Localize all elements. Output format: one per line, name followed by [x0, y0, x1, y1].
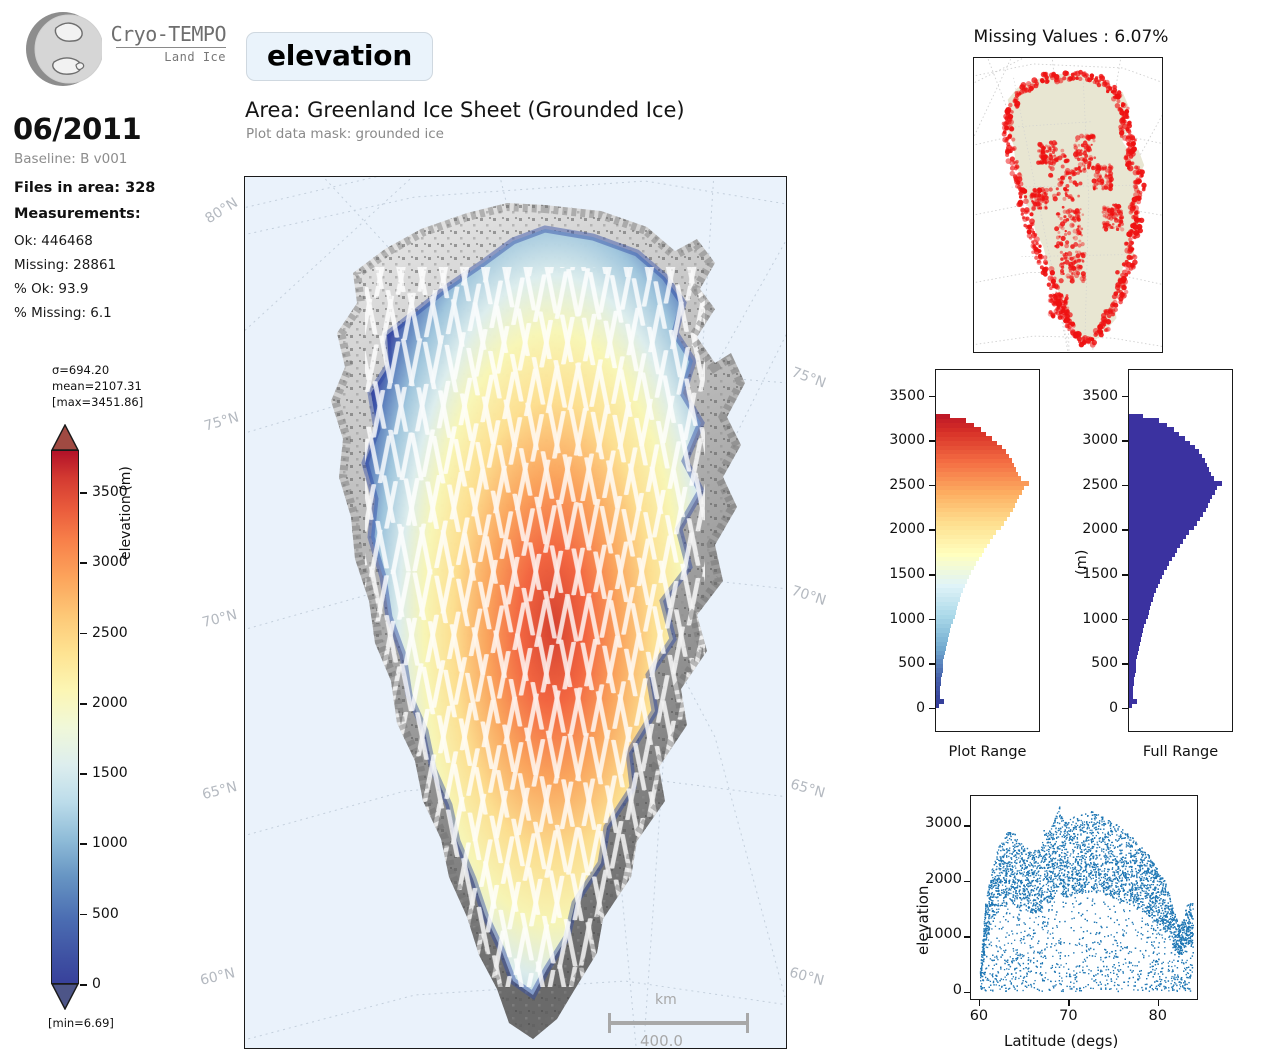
- colorbar-max: [max=3451.86]: [52, 395, 143, 411]
- histogram-bar: [1129, 423, 1167, 428]
- histogram-bar: [1129, 610, 1149, 615]
- histogram-bar: [936, 534, 993, 539]
- histogram-bar: [936, 703, 939, 708]
- histogram-bar: [936, 454, 1009, 459]
- histogram-bar: [1129, 641, 1140, 646]
- histogram-bar: [1129, 579, 1160, 584]
- missing-values-map-axes[interactable]: [973, 57, 1163, 353]
- baseline-label: Baseline: B v001: [14, 151, 127, 167]
- histogram-bar: [1129, 490, 1215, 495]
- histogram-bar: [936, 565, 974, 570]
- histogram-bar: [1129, 418, 1159, 423]
- histogram-tick-label-1000: 1000: [1074, 611, 1118, 627]
- histogram-bar: [1129, 677, 1134, 682]
- colorbar-mean: mean=2107.31: [52, 379, 143, 395]
- histogram-tick-label-2000: 2000: [881, 521, 925, 537]
- colorbar-tick: [80, 633, 87, 635]
- histogram-bar: [1129, 561, 1169, 566]
- histogram-bar: [936, 632, 949, 637]
- lat-label-right-75n: 75°N: [789, 364, 828, 391]
- histogram-bar: [1129, 441, 1190, 446]
- histogram-bar: [936, 605, 957, 610]
- histogram-bar: [1129, 686, 1133, 691]
- histogram-bar: [936, 597, 960, 602]
- histogram-bar: [936, 530, 996, 535]
- histogram-bar: [936, 441, 997, 446]
- stat-pct-ok: % Ok: 93.9: [14, 281, 88, 297]
- histogram-bar: [936, 695, 940, 700]
- histogram-bar: [936, 663, 943, 668]
- histogram-bar: [1129, 650, 1138, 655]
- histogram-bar: [936, 458, 1012, 463]
- histogram-tick-label-2500: 2500: [881, 477, 925, 493]
- logo-title: Cryo-TEMPO: [106, 24, 226, 45]
- files-in-area-label: Files in area: 328: [14, 180, 155, 196]
- colorbar-bottom-arrow-icon: [51, 983, 79, 1010]
- colorbar-tick-label-2000: 2000: [92, 695, 128, 711]
- histogram-bar: [936, 650, 945, 655]
- lat-label-left-75n: 75°N: [202, 409, 240, 434]
- histogram-bar: [936, 668, 943, 673]
- scatter-x-tick-label-80: 80: [1146, 1008, 1170, 1024]
- scatter-xlabel: Latitude (degs): [1004, 1032, 1118, 1050]
- histogram-bar: [936, 579, 967, 584]
- globe-icon: [24, 10, 102, 88]
- colorbar-tick-label-500: 500: [92, 906, 119, 922]
- scatter-x-tick: [979, 1000, 981, 1006]
- histogram-tick: [929, 485, 935, 487]
- lat-label-right-60n: 60°N: [788, 965, 826, 990]
- colorbar-tick: [80, 492, 87, 494]
- histogram-bar: [936, 449, 1006, 454]
- histogram-bar: [936, 472, 1018, 477]
- histogram-bar: [1129, 619, 1146, 624]
- stat-ok: Ok: 446468: [14, 233, 93, 249]
- histogram-tick: [1122, 708, 1128, 710]
- histogram-bar: [1129, 503, 1208, 508]
- histogram-tick-label-1500: 1500: [881, 566, 925, 582]
- histogram-bar: [1129, 570, 1164, 575]
- missing-values-map: [974, 58, 1162, 352]
- histogram-bar: [936, 672, 942, 677]
- histogram-tick: [1122, 619, 1128, 621]
- histogram-bar: [1129, 525, 1194, 530]
- scalebar-right-cap: [746, 1013, 749, 1033]
- histogram-bar: [1129, 583, 1158, 588]
- colorbar: [51, 424, 79, 1010]
- histogram-bar: [936, 681, 941, 686]
- histogram-bar: [936, 414, 950, 419]
- histogram-bar: [1129, 659, 1136, 664]
- histogram-tick-label-500: 500: [1074, 655, 1118, 671]
- full-range-histogram-ylabel: (m): [1074, 550, 1090, 575]
- report-date: 06/2011: [13, 112, 141, 146]
- histogram-bar: [936, 628, 950, 633]
- histogram-bar: [936, 516, 1007, 521]
- scatter-y-tick: [964, 825, 970, 827]
- histogram-bar: [1129, 628, 1143, 633]
- histogram-bar: [936, 548, 984, 553]
- histogram-bar: [1129, 494, 1212, 499]
- histogram-tick-label-3000: 3000: [881, 432, 925, 448]
- histogram-bar: [936, 646, 946, 651]
- histogram-bar: [1129, 663, 1136, 668]
- histogram-bar: [936, 539, 990, 544]
- histogram-bar: [936, 583, 965, 588]
- histogram-bar: [1129, 449, 1199, 454]
- histogram-bar: [936, 490, 1022, 495]
- main-map-axes[interactable]: km 400.0: [244, 176, 787, 1049]
- histogram-bar: [936, 619, 953, 624]
- histogram-tick: [1122, 663, 1128, 665]
- scatter-y-tick: [964, 992, 970, 994]
- histogram-bar: [1129, 699, 1137, 704]
- histogram-bar: [936, 543, 987, 548]
- logo-text-block: Cryo-TEMPO Land Ice: [106, 24, 226, 64]
- histogram-bar: [1129, 476, 1214, 481]
- histogram-bar: [936, 677, 941, 682]
- scatter-x-tick-label-70: 70: [1056, 1008, 1080, 1024]
- histogram-bar: [1129, 548, 1177, 553]
- histogram-bar: [936, 436, 992, 441]
- cryo-tempo-logo: Cryo-TEMPO Land Ice: [14, 8, 226, 92]
- area-title: Area: Greenland Ice Sheet (Grounded Ice): [245, 98, 685, 122]
- scatter-y-tick: [964, 936, 970, 938]
- scatter-y-tick-label-0: 0: [914, 982, 962, 998]
- lat-label-left-60n: 60°N: [199, 965, 237, 989]
- scalebar-unit: km: [655, 992, 677, 1008]
- histogram-bar: [1129, 695, 1133, 700]
- histogram-bar: [936, 588, 963, 593]
- histogram-tick: [1122, 396, 1128, 398]
- histogram-bar: [1129, 588, 1156, 593]
- histogram-tick: [1122, 574, 1128, 576]
- histogram-bar: [1129, 436, 1185, 441]
- histogram-tick: [929, 708, 935, 710]
- colorbar-axis-label: elevation (m): [118, 466, 134, 560]
- histogram-tick: [1122, 485, 1128, 487]
- histogram-tick: [929, 396, 935, 398]
- histogram-bar: [936, 570, 971, 575]
- histogram-tick: [1122, 440, 1128, 442]
- plot-range-histogram-axes[interactable]: [935, 369, 1040, 732]
- histogram-tick: [929, 529, 935, 531]
- histogram-bar: [1129, 485, 1217, 490]
- histogram-bar: [1129, 539, 1183, 544]
- scatter-y-tick-label-3000: 3000: [914, 815, 962, 831]
- histogram-bar: [936, 637, 948, 642]
- histogram-bar: [936, 610, 956, 615]
- colorbar-tick-label-2500: 2500: [92, 625, 128, 641]
- histogram-bar: [1129, 623, 1144, 628]
- histogram-bar: [1129, 681, 1134, 686]
- histogram-bar: [936, 592, 961, 597]
- histogram-bar: [1129, 601, 1151, 606]
- histogram-bar: [1129, 432, 1179, 437]
- mask-subtitle: Plot data mask: grounded ice: [246, 126, 444, 142]
- histogram-bar: [936, 690, 940, 695]
- histogram-tick: [1122, 529, 1128, 531]
- histogram-bar: [1129, 614, 1148, 619]
- histogram-bar: [1129, 690, 1133, 695]
- histogram-bar: [936, 521, 1004, 526]
- histogram-bar: [1129, 632, 1142, 637]
- histogram-bar: [1129, 472, 1211, 477]
- logo-divider: [116, 47, 226, 48]
- histogram-bar: [936, 525, 1001, 530]
- colorbar-tick: [80, 843, 87, 845]
- scalebar-left-cap: [608, 1013, 611, 1033]
- histogram-bar: [1129, 574, 1162, 579]
- scatter-y-tick: [964, 881, 970, 883]
- full-range-histogram-axes[interactable]: [1128, 369, 1233, 732]
- colorbar-top-arrow-icon: [51, 424, 79, 451]
- elevation-vs-latitude-axes[interactable]: [970, 795, 1198, 1000]
- histogram-tick-label-3500: 3500: [1074, 388, 1118, 404]
- histogram-bar: [1129, 454, 1202, 459]
- histogram-bar: [1129, 597, 1153, 602]
- colorbar-tick: [80, 984, 87, 986]
- histogram-tick-label-2500: 2500: [1074, 477, 1118, 493]
- histogram-tick-label-1000: 1000: [881, 611, 925, 627]
- histogram-bar: [936, 654, 944, 659]
- histogram-bar: [936, 503, 1015, 508]
- colorbar-sigma: σ=694.20: [52, 363, 143, 379]
- full-range-histogram-xlabel: Full Range: [1128, 744, 1233, 760]
- logo-subtitle: Land Ice: [106, 50, 226, 64]
- missing-values-title: Missing Values : 6.07%: [971, 27, 1171, 47]
- histogram-bar: [936, 623, 951, 628]
- colorbar-gradient: [51, 450, 79, 984]
- scatter-ylabel: elevation: [914, 886, 932, 955]
- histogram-bar: [936, 494, 1019, 499]
- histogram-tick-label-0: 0: [1074, 700, 1118, 716]
- histogram-bar: [936, 552, 982, 557]
- histogram-bar: [1129, 521, 1197, 526]
- histogram-bar: [936, 686, 940, 691]
- histogram-bar: [1129, 672, 1135, 677]
- histogram-bar: [936, 614, 955, 619]
- histogram-tick-label-500: 500: [881, 655, 925, 671]
- scatter-x-tick: [1158, 1000, 1160, 1006]
- histogram-bar: [936, 659, 943, 664]
- lat-label-left-80n: 80°N: [202, 195, 240, 227]
- histogram-bar: [936, 476, 1021, 481]
- histogram-tick: [929, 574, 935, 576]
- histogram-bar: [1129, 605, 1150, 610]
- histogram-tick-label-3000: 3000: [1074, 432, 1118, 448]
- histogram-bar: [936, 423, 974, 428]
- histogram-bar: [1129, 458, 1205, 463]
- histogram-bar: [936, 498, 1017, 503]
- histogram-bar: [936, 556, 979, 561]
- stat-pct-missing: % Missing: 6.1: [14, 305, 112, 321]
- histogram-bar: [936, 432, 986, 437]
- histogram-tick-label-3500: 3500: [881, 388, 925, 404]
- colorbar-tick: [80, 773, 87, 775]
- histogram-bar: [1129, 654, 1137, 659]
- histogram-bar: [1129, 637, 1141, 642]
- histogram-bar: [1129, 512, 1203, 517]
- histogram-tick: [929, 619, 935, 621]
- histogram-bar: [936, 507, 1013, 512]
- histogram-bar: [1129, 463, 1207, 468]
- elevation-vs-latitude-scatter: [971, 796, 1197, 999]
- histogram-bar: [1129, 592, 1154, 597]
- colorbar-tick-label-0: 0: [92, 976, 101, 992]
- histogram-bar: [1129, 498, 1210, 503]
- scalebar-value: 400.0: [640, 1032, 683, 1049]
- scatter-x-tick: [1068, 1000, 1070, 1006]
- histogram-bar: [936, 601, 958, 606]
- histogram-bar: [1129, 534, 1186, 539]
- greenland-ice-sheet-plot: [245, 177, 787, 1049]
- histogram-bar: [1129, 427, 1174, 432]
- histogram-bar: [1129, 481, 1222, 486]
- histogram-tick-label-0: 0: [881, 700, 925, 716]
- lat-label-right-65n: 65°N: [788, 776, 826, 801]
- histogram-bar: [1129, 414, 1143, 419]
- histogram-bar: [936, 463, 1014, 468]
- lat-label-left-65n: 65°N: [201, 779, 239, 803]
- colorbar-min: [min=6.69]: [48, 1016, 114, 1030]
- colorbar-tick-label-1000: 1000: [92, 835, 128, 851]
- histogram-bar: [936, 574, 969, 579]
- lat-label-right-70n: 70°N: [789, 583, 828, 609]
- histogram-tick-label-2000: 2000: [1074, 521, 1118, 537]
- histogram-bar: [1129, 703, 1132, 708]
- scalebar-line: [609, 1021, 749, 1025]
- histogram-bar: [936, 561, 976, 566]
- histogram-bar: [1129, 467, 1209, 472]
- histogram-bar: [936, 699, 944, 704]
- colorbar-tick: [80, 914, 87, 916]
- histogram-tick: [929, 440, 935, 442]
- colorbar-tick: [80, 562, 87, 564]
- colorbar-stats: σ=694.20 mean=2107.31 [max=3451.86]: [52, 363, 143, 411]
- histogram-bar: [1129, 668, 1136, 673]
- measurements-label: Measurements:: [14, 206, 141, 222]
- histogram-bar: [1129, 530, 1189, 535]
- histogram-bar: [1129, 552, 1175, 557]
- histogram-bar: [936, 512, 1010, 517]
- histogram-bar: [1129, 507, 1206, 512]
- colorbar-tick: [80, 703, 87, 705]
- histogram-bar: [936, 427, 981, 432]
- histogram-bar: [1129, 516, 1200, 521]
- histogram-bar: [1129, 543, 1180, 548]
- histogram-bar: [1129, 445, 1195, 450]
- histogram-bar: [1129, 565, 1167, 570]
- histogram-bar: [936, 445, 1002, 450]
- histogram-bar: [936, 481, 1029, 486]
- histogram-bar: [1129, 556, 1172, 561]
- stat-missing: Missing: 28861: [14, 257, 116, 273]
- scatter-x-tick-label-60: 60: [967, 1008, 991, 1024]
- scatter-y-tick-label-2000: 2000: [914, 871, 962, 887]
- cryo-tempo-report-page: Cryo-TEMPO Land Ice 06/2011 Baseline: B …: [0, 0, 1272, 1060]
- histogram-bar: [936, 641, 947, 646]
- plot-range-histogram-xlabel: Plot Range: [935, 744, 1040, 760]
- histogram-bar: [936, 485, 1024, 490]
- histogram-bar: [936, 467, 1016, 472]
- lat-label-left-70n: 70°N: [201, 607, 239, 631]
- variable-badge[interactable]: elevation: [246, 32, 433, 81]
- histogram-bar: [936, 418, 966, 423]
- histogram-tick: [929, 663, 935, 665]
- histogram-bar: [1129, 646, 1139, 651]
- colorbar-tick-label-1500: 1500: [92, 765, 128, 781]
